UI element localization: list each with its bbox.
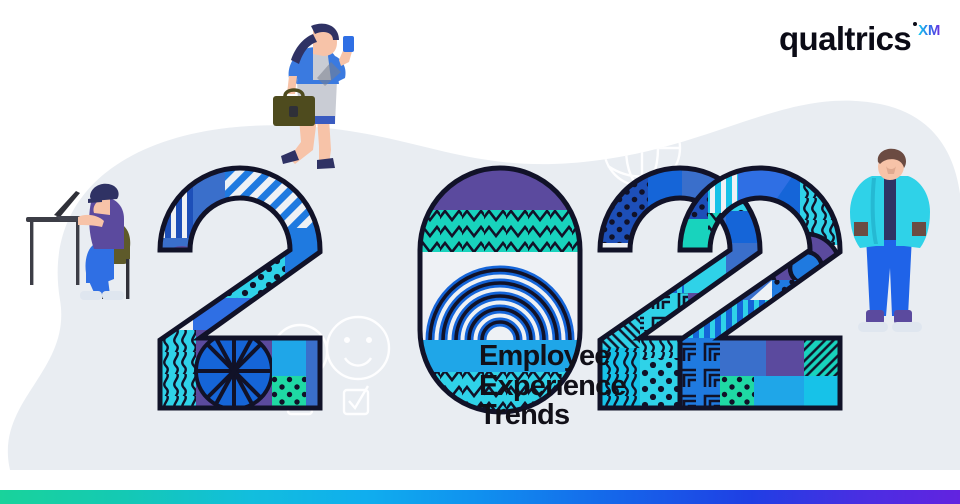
head xyxy=(878,149,906,180)
qualtrics-wordmark: qualtrics xyxy=(779,22,911,56)
seated-worker-with-laptop xyxy=(18,155,148,310)
page-title: Employee Experience Trends xyxy=(479,342,779,431)
walking-woman-with-briefcase xyxy=(255,22,367,177)
title-line-1: Employee xyxy=(479,342,779,372)
qualtrics-logo[interactable]: qualtrics XM xyxy=(779,22,940,58)
person-body xyxy=(78,184,124,300)
registered-dot xyxy=(913,22,917,26)
standing-person-hands-in-pockets xyxy=(836,148,944,346)
poster-canvas: qualtrics XM Employee Experience Trends xyxy=(0,0,960,504)
title-line-2: Experience xyxy=(479,372,779,402)
xm-superscript: XM xyxy=(918,23,940,38)
pants xyxy=(858,236,922,332)
title-line-3: Trends xyxy=(479,401,779,431)
brand-gradient-bar xyxy=(0,490,960,504)
mobile-phone xyxy=(343,36,354,52)
desk xyxy=(26,217,88,285)
